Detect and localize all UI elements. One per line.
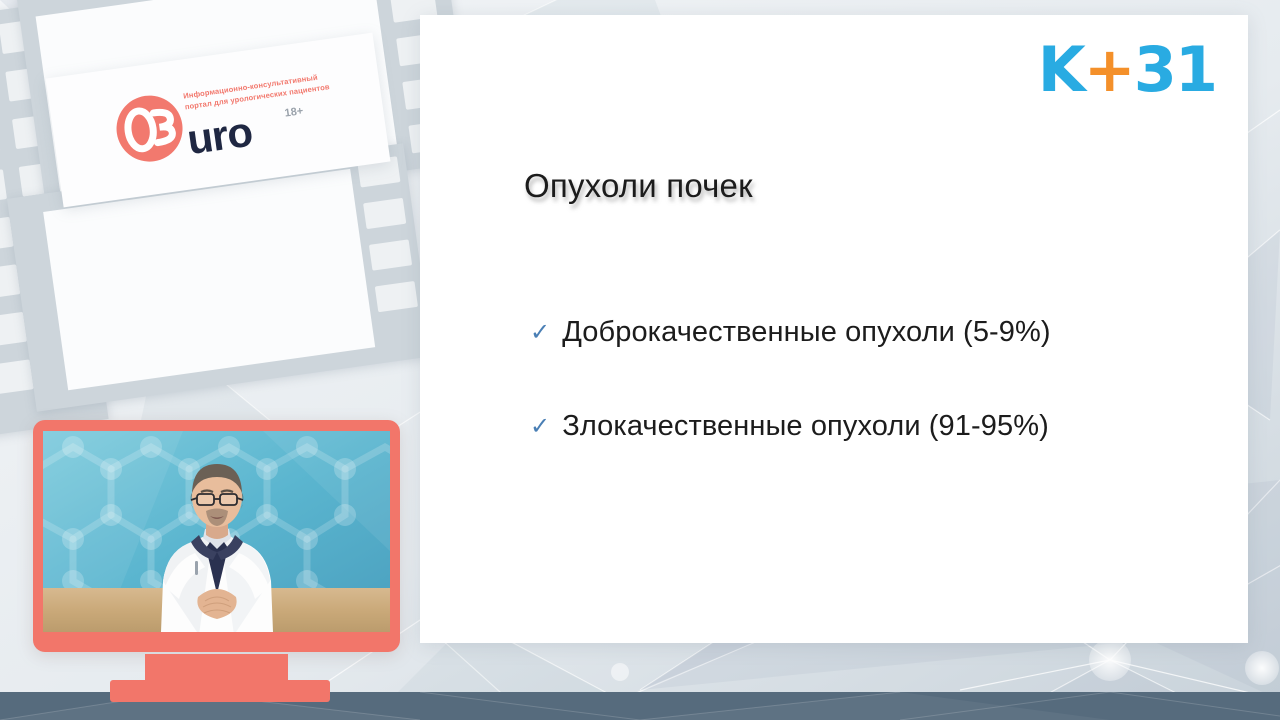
monitor-stand-neck: [145, 654, 288, 680]
bullet-text-malignant: Злокачественные опухоли (91-95%): [562, 404, 1049, 448]
k31-logo-31: 31: [1134, 33, 1216, 106]
age-rating-label: 18+: [284, 105, 304, 119]
slide-title: Опухоли почек: [524, 167, 753, 205]
portal-wordmark: uro: [185, 111, 255, 162]
check-icon: ✓: [530, 404, 550, 448]
portal-tagline: Информационно-консультативный портал для…: [183, 71, 334, 113]
monitor-stand-foot: [110, 680, 330, 702]
video-screen[interactable]: [43, 431, 390, 632]
video-scene: [43, 431, 390, 632]
presenter-video-monitor[interactable]: [33, 420, 400, 652]
bullet-text-benign: Доброкачественные опухоли (5-9%): [562, 310, 1050, 354]
presentation-slide: K+31 Опухоли почек ✓ Доброкачественные о…: [420, 15, 1248, 643]
slide-stage: Информационно-консультативный портал для…: [0, 0, 1280, 720]
bullet-item-malignant: ✓ Злокачественные опухоли (91-95%): [530, 404, 1210, 448]
bullet-list: ✓ Доброкачественные опухоли (5-9%) ✓ Зло…: [530, 310, 1210, 498]
k31-logo: K+31: [1038, 39, 1216, 101]
zero-three-mark-icon: [111, 90, 188, 167]
k31-logo-k: K: [1038, 33, 1084, 106]
presenter-figure: [43, 431, 390, 632]
k31-logo-plus: +: [1084, 33, 1134, 106]
check-icon: ✓: [530, 310, 550, 354]
bullet-item-benign: ✓ Доброкачественные опухоли (5-9%): [530, 310, 1210, 354]
